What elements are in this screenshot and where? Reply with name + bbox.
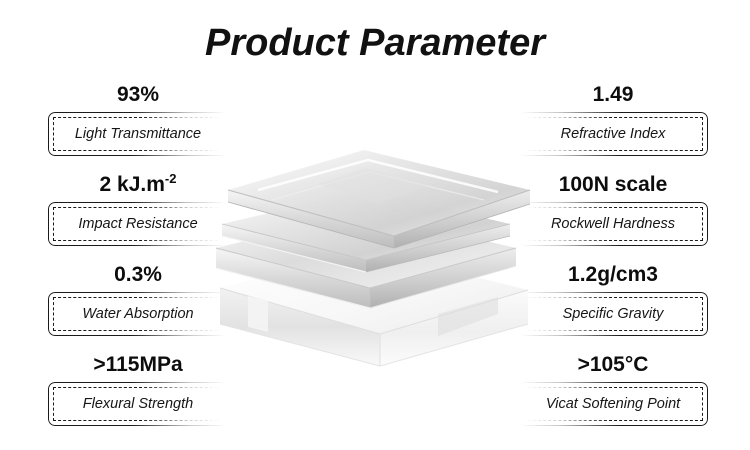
parameter-label: Flexural Strength	[48, 382, 228, 426]
parameter-value: 93%	[48, 82, 228, 108]
parameter-value: 1.49	[518, 82, 708, 108]
parameter-label: Vicat Softening Point	[518, 382, 708, 426]
page-title: Product Parameter	[0, 22, 750, 65]
parameter-label-box: Flexural Strength	[48, 382, 228, 426]
acrylic-stack-svg	[198, 138, 548, 374]
product-parameter-infographic: Product Parameter 93% Light Transmittanc…	[0, 0, 750, 450]
acrylic-sheet-stack-image	[198, 138, 548, 374]
parameter-label-box: Vicat Softening Point	[518, 382, 708, 426]
